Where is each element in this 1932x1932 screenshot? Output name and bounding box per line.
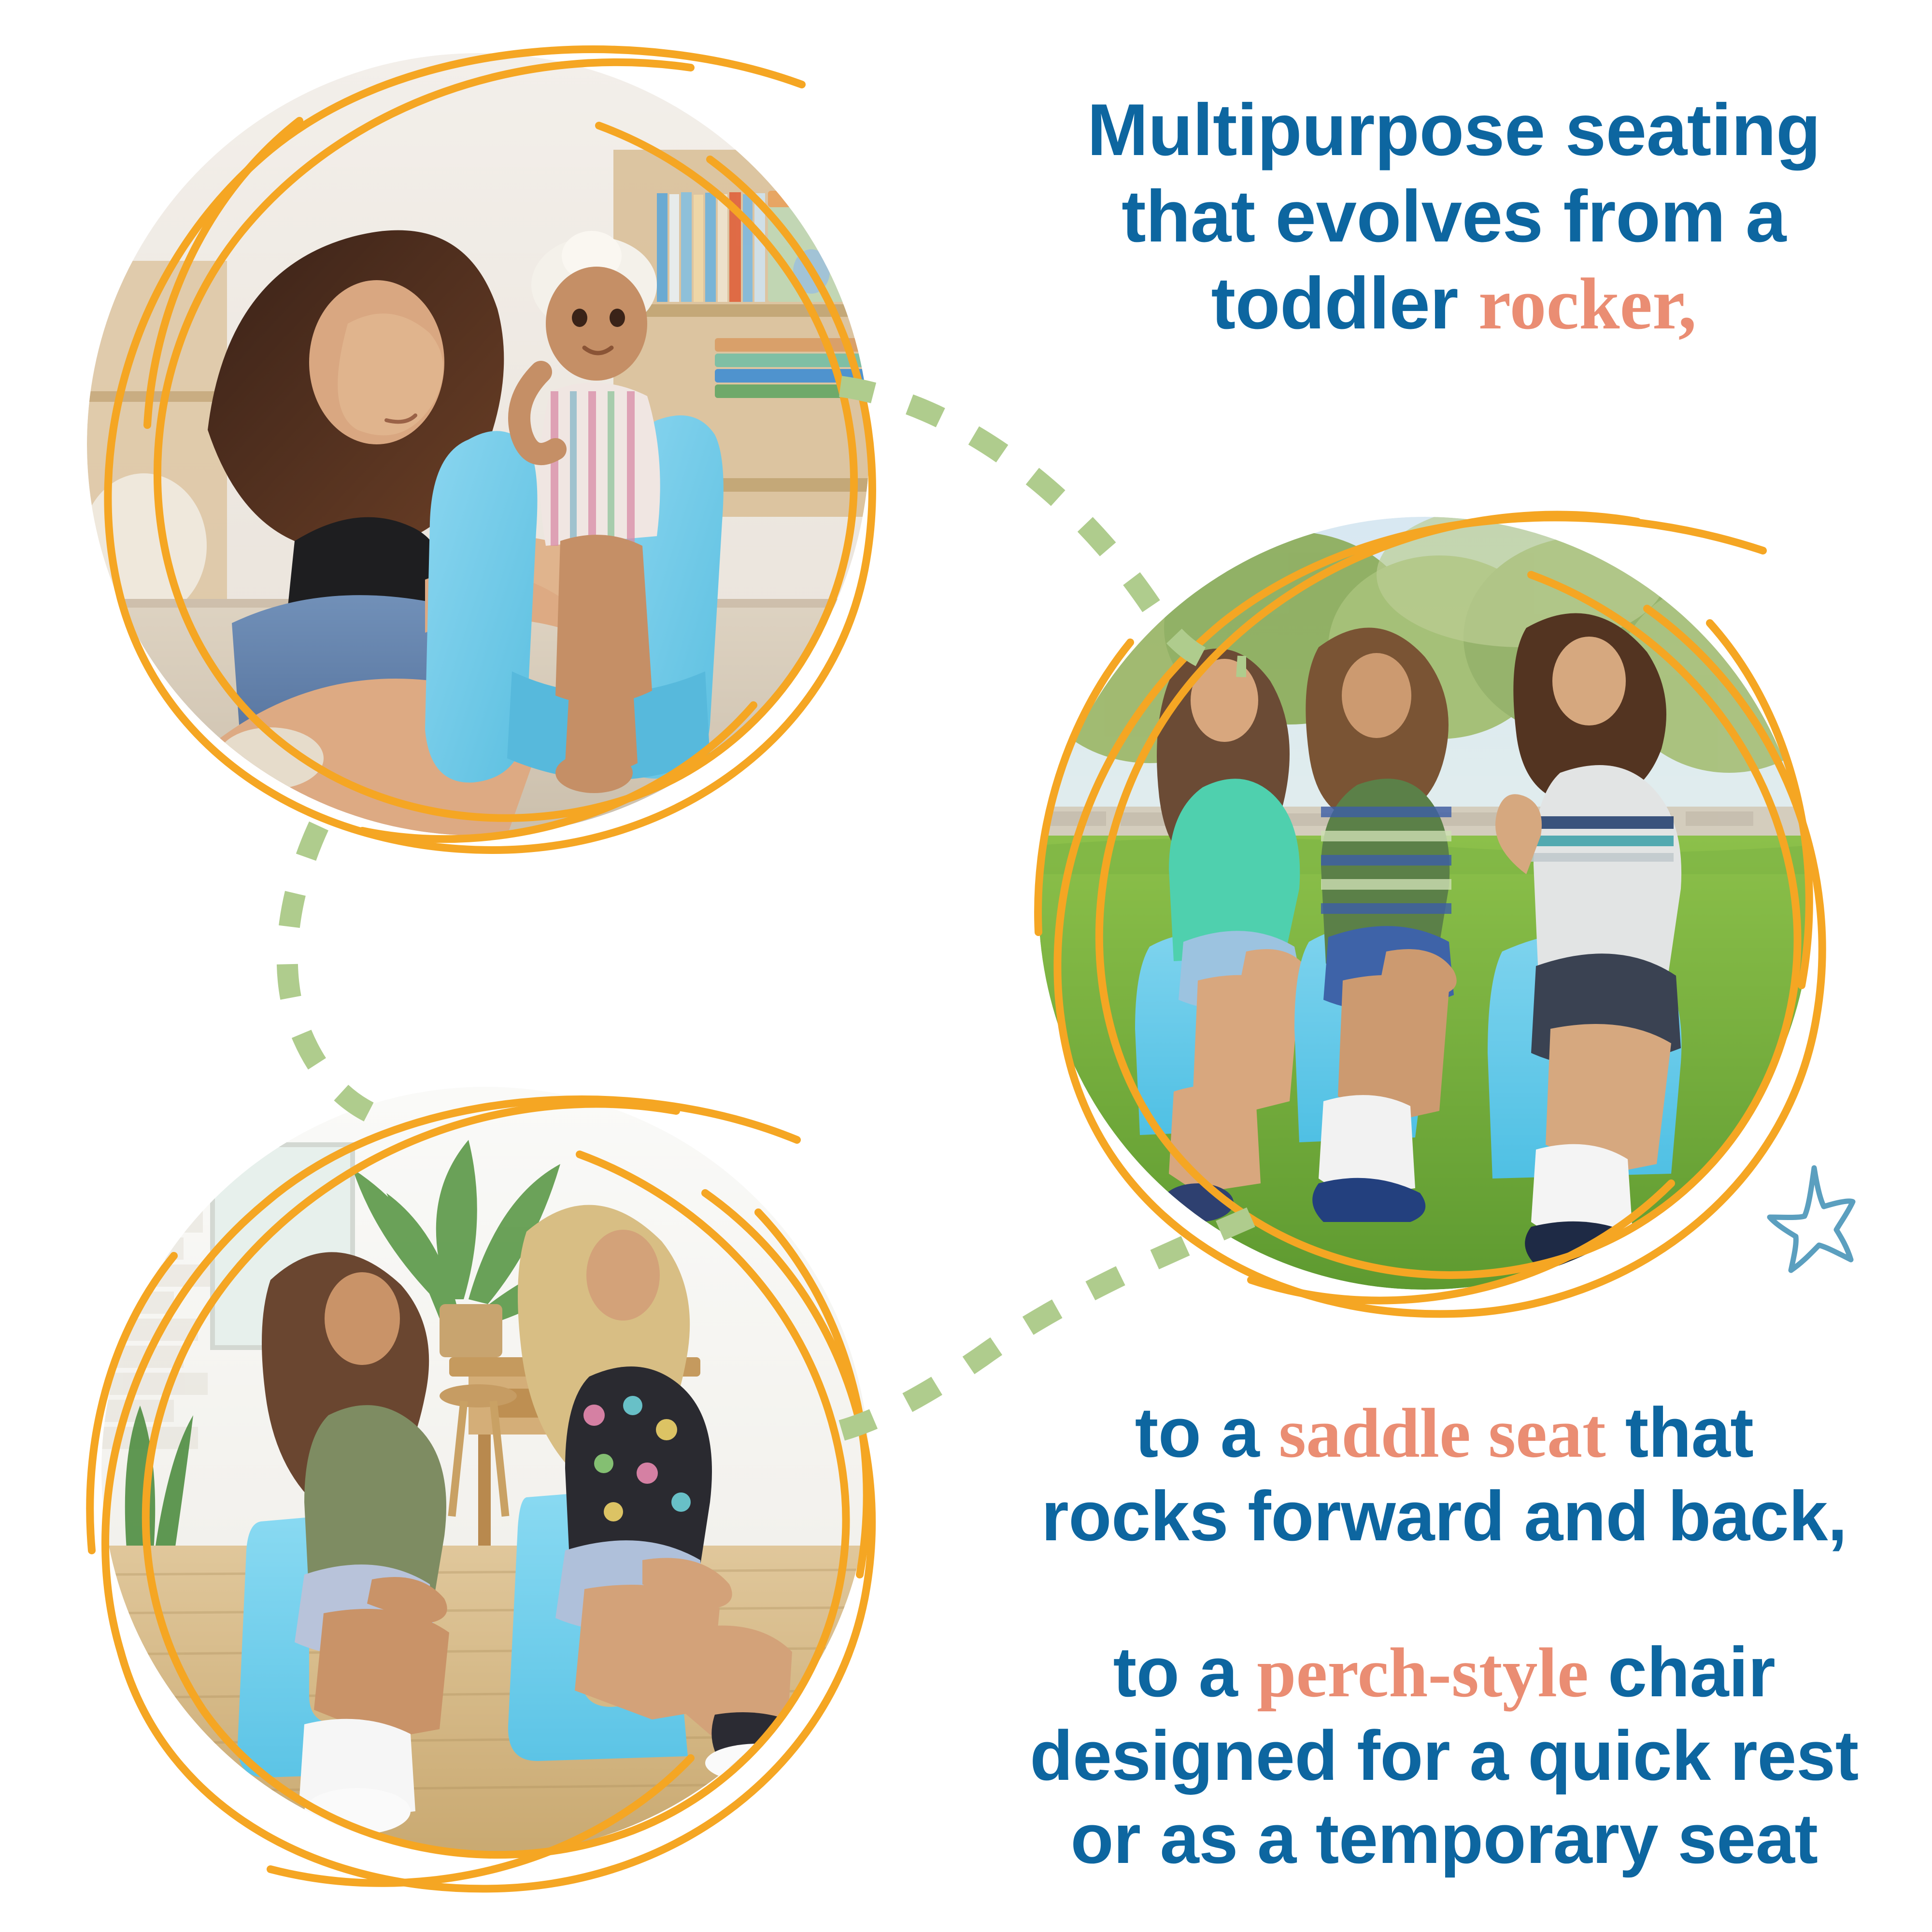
accent-phrase: saddle seat — [1279, 1394, 1605, 1472]
accent-phrase: perch-style — [1257, 1634, 1589, 1712]
dashed-connector-left — [241, 821, 444, 1121]
photo-perch-chairs-image — [101, 1087, 869, 1855]
body-p1-line-2: rocks forward and back, — [980, 1475, 1908, 1558]
headline-text: Multipurpose seatingthat evolves from at… — [1005, 87, 1903, 347]
headline-line-1: Multipurpose seating — [1005, 87, 1903, 173]
text-phrase: chair — [1589, 1633, 1776, 1711]
headline-lines: Multipurpose seatingthat evolves from at… — [1005, 87, 1903, 347]
body-text: to a saddle seat thatrocks forward and b… — [980, 1391, 1908, 1880]
text-phrase: toddler — [1211, 262, 1478, 344]
text-phrase: that evolves from a — [1122, 175, 1786, 257]
body-p2-line-1: to a perch-style chair — [980, 1631, 1908, 1714]
text-phrase: rocks forward and back, — [1041, 1477, 1847, 1555]
star-doodle — [1768, 1145, 1908, 1285]
text-phrase: to a — [1113, 1633, 1257, 1711]
headline-line-3: toddler rocker, — [1005, 260, 1903, 347]
text-phrase: designed for a quick rest — [1030, 1716, 1859, 1795]
headline-line-2: that evolves from a — [1005, 173, 1903, 260]
text-phrase: Multipurpose seating — [1087, 89, 1821, 171]
text-phrase: to a — [1135, 1393, 1279, 1472]
body-p1-line-1: to a saddle seat that — [980, 1391, 1908, 1475]
body-paragraph-2: to a perch-style chairdesigned for a qui… — [980, 1631, 1908, 1881]
text-phrase: or as a temporary seat — [1070, 1799, 1818, 1878]
photo-toddler-rocker — [87, 53, 869, 836]
photo-toddler-rocker-image — [87, 53, 869, 836]
body-paragraphs: to a saddle seat thatrocks forward and b… — [980, 1391, 1908, 1880]
photo-saddle-seats-outdoor — [1038, 517, 1811, 1290]
infographic-canvas: Multipurpose seatingthat evolves from at… — [0, 0, 1932, 1932]
body-p2-line-3: or as a temporary seat — [980, 1797, 1908, 1880]
accent-phrase: rocker, — [1478, 263, 1697, 344]
photo-perch-chairs-indoor — [101, 1087, 869, 1855]
text-phrase: that — [1606, 1393, 1754, 1472]
body-paragraph-1: to a saddle seat thatrocks forward and b… — [980, 1391, 1908, 1558]
photo-saddle-seats-image — [1038, 517, 1811, 1290]
body-p2-line-2: designed for a quick rest — [980, 1714, 1908, 1797]
